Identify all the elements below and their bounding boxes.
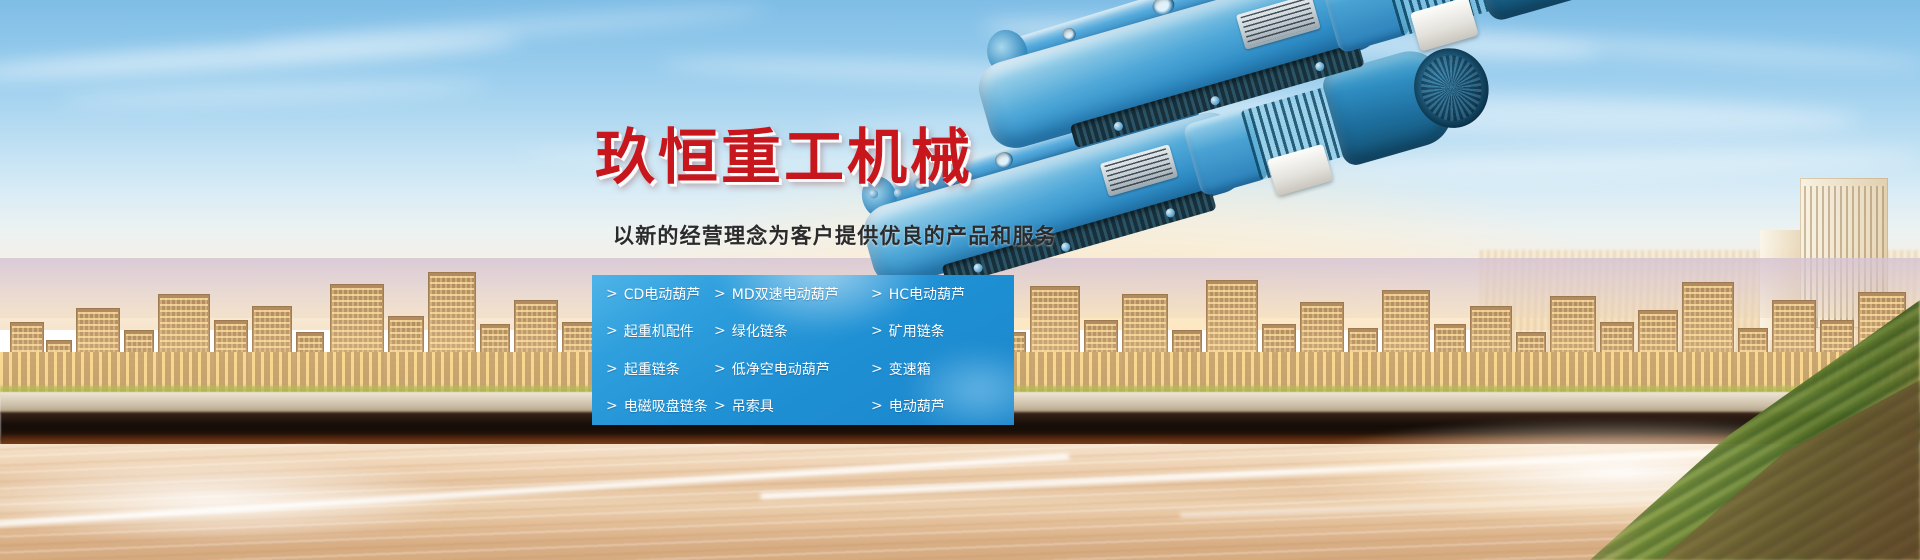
bullet-arrow-icon: > — [871, 361, 883, 377]
product-link-hc-hoist[interactable]: >HC电动葫芦 — [857, 275, 1014, 313]
product-link-label: CD电动葫芦 — [624, 284, 701, 304]
product-link-slings[interactable]: >吊索具 — [714, 388, 857, 426]
product-link-label: 电动葫芦 — [889, 396, 945, 416]
bullet-arrow-icon: > — [606, 398, 618, 414]
product-category-box: >CD电动葫芦 >MD双速电动葫芦 >HC电动葫芦 >起重机配件 >绿化链条 >… — [592, 275, 1014, 425]
product-link-gearbox[interactable]: >变速箱 — [857, 350, 1014, 388]
product-link-cd-hoist[interactable]: >CD电动葫芦 — [606, 275, 714, 313]
page-subtitle: 以新的经营理念为客户提供优良的产品和服务 — [613, 220, 1057, 250]
page-title: 玖恒重工机械 — [595, 128, 973, 188]
product-link-label: 电磁吸盘链条 — [624, 396, 708, 416]
bullet-arrow-icon: > — [606, 323, 618, 339]
product-link-label: 起重链条 — [624, 359, 680, 379]
product-link-label: 绿化链条 — [732, 321, 788, 341]
product-link-label: MD双速电动葫芦 — [732, 284, 839, 304]
bullet-arrow-icon: > — [606, 361, 618, 377]
product-category-grid: >CD电动葫芦 >MD双速电动葫芦 >HC电动葫芦 >起重机配件 >绿化链条 >… — [592, 275, 1014, 425]
product-link-magnetic-chain[interactable]: >电磁吸盘链条 — [606, 388, 714, 426]
bullet-arrow-icon: > — [871, 286, 883, 302]
bullet-arrow-icon: > — [871, 323, 883, 339]
product-link-electric-hoist[interactable]: >电动葫芦 — [857, 388, 1014, 426]
product-link-label: 低净空电动葫芦 — [732, 359, 830, 379]
bullet-arrow-icon: > — [714, 398, 726, 414]
bullet-arrow-icon: > — [714, 361, 726, 377]
product-link-label: HC电动葫芦 — [889, 284, 965, 304]
bullet-arrow-icon: > — [714, 286, 726, 302]
product-link-md-dual-speed-hoist[interactable]: >MD双速电动葫芦 — [714, 275, 857, 313]
product-link-crane-parts[interactable]: >起重机配件 — [606, 313, 714, 351]
product-link-greening-chain[interactable]: >绿化链条 — [714, 313, 857, 351]
electric-hoist-product-images — [1040, 60, 1740, 430]
road-highlight — [0, 455, 620, 560]
product-link-lifting-chain[interactable]: >起重链条 — [606, 350, 714, 388]
bullet-arrow-icon: > — [606, 286, 618, 302]
product-link-label: 起重机配件 — [624, 321, 694, 341]
hero-banner: 玖恒重工机械 以新的经营理念为客户提供优良的产品和服务 >CD电动葫芦 >MD双… — [0, 0, 1920, 560]
product-link-label: 变速箱 — [889, 359, 931, 379]
product-link-mining-chain[interactable]: >矿用链条 — [857, 313, 1014, 351]
product-link-label: 吊索具 — [732, 396, 774, 416]
product-link-label: 矿用链条 — [889, 321, 945, 341]
product-link-low-headroom-hoist[interactable]: >低净空电动葫芦 — [714, 350, 857, 388]
bullet-arrow-icon: > — [871, 398, 883, 414]
bullet-arrow-icon: > — [714, 323, 726, 339]
